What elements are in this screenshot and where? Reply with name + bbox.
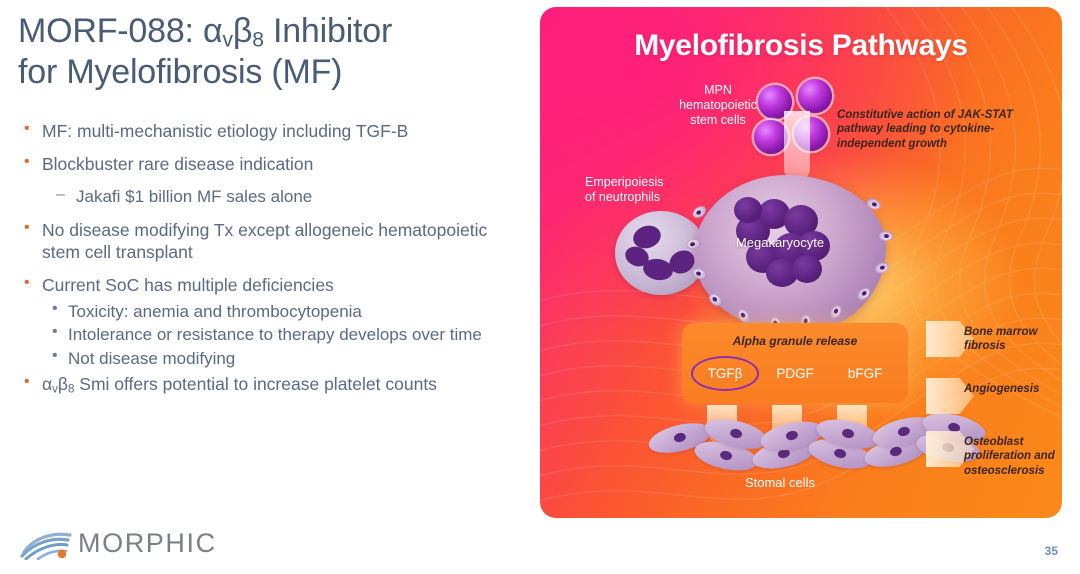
granule-box-title: Alpha granule release bbox=[682, 334, 908, 348]
page-number: 35 bbox=[1045, 544, 1058, 558]
bullet-item: Blockbuster rare disease indication bbox=[16, 153, 516, 175]
note-jak-stat: Constitutive action of JAK-STAT pathway … bbox=[837, 108, 1027, 151]
stromal-cell-band bbox=[660, 421, 960, 479]
left-content-column: MORF-088: αvβ8 Inhibitor for Myelofibros… bbox=[0, 0, 530, 574]
bullet-item: Current SoC has multiple deficiencies bbox=[16, 274, 516, 296]
sub-bullet-item: Intolerance or resistance to therapy dev… bbox=[16, 325, 516, 345]
slide: MORF-088: αvβ8 Inhibitor for Myelofibros… bbox=[0, 0, 1080, 574]
title-sub-v: v bbox=[223, 29, 233, 52]
bullet-list: MF: multi-mechanistic etiology including… bbox=[16, 120, 516, 408]
sub-bullet-item: Toxicity: anemia and thrombocytopenia bbox=[16, 302, 516, 322]
label-stromal-cells: Stomal cells bbox=[690, 475, 870, 491]
note-osteoblast: Osteoblast proliferation and osteosclero… bbox=[964, 435, 1062, 478]
stem-cell-sphere bbox=[798, 79, 832, 113]
title-sub-8: 8 bbox=[252, 29, 264, 52]
title-line-1: MORF-088: αvβ8 Inhibitor bbox=[18, 12, 392, 50]
megakaryocyte-cell bbox=[694, 175, 886, 333]
label-emperipoiesis: Emperipoiesis of neutrophils bbox=[585, 175, 715, 205]
stem-cell-sphere bbox=[754, 120, 788, 154]
label-emperipoiesis-line-2: of neutrophils bbox=[585, 190, 715, 205]
page-title: MORF-088: αvβ8 Inhibitor for Myelofibros… bbox=[18, 12, 518, 91]
sub-bullet-item: Jakafi $1 billion MF sales alone bbox=[16, 186, 516, 207]
bullet-item: MF: multi-mechanistic etiology including… bbox=[16, 120, 516, 142]
note-bone-marrow-fibrosis: Bone marrow fibrosis bbox=[964, 325, 1062, 354]
nucleus-lobe bbox=[792, 255, 822, 283]
label-emperipoiesis-line-1: Emperipoiesis bbox=[585, 175, 715, 190]
granule-item-pdgf[interactable]: PDGF bbox=[770, 363, 820, 384]
granule-item-tgfb[interactable]: TGFβ bbox=[702, 363, 749, 384]
diagram-title: Myelofibrosis Pathways bbox=[540, 29, 1062, 63]
nucleus-lobe bbox=[734, 197, 762, 223]
morphic-logo: MORPHIC bbox=[18, 526, 217, 560]
morphic-wordmark: MORPHIC bbox=[78, 528, 217, 559]
label-megakaryocyte: Megakaryocyte bbox=[700, 235, 860, 251]
myelofibrosis-pathways-diagram: Myelofibrosis Pathways MPN hematopoietic… bbox=[540, 7, 1062, 518]
sub-bullet-item: Not disease modifying bbox=[16, 349, 516, 369]
granule-items: TGFβ PDGF bFGF bbox=[682, 363, 908, 384]
bullet-item: No disease modifying Tx except allogenei… bbox=[16, 219, 516, 263]
alpha-granule-box: Alpha granule release TGFβ PDGF bFGF bbox=[682, 323, 908, 403]
title-line-2: for Myelofibrosis (MF) bbox=[18, 53, 342, 91]
note-angiogenesis: Angiogenesis bbox=[964, 382, 1062, 396]
granule-item-bfgf[interactable]: bFGF bbox=[842, 363, 889, 384]
bullet-item: αvβ8 Smi offers potential to increase pl… bbox=[16, 373, 516, 397]
morphic-swoosh-logo-icon bbox=[18, 526, 76, 560]
